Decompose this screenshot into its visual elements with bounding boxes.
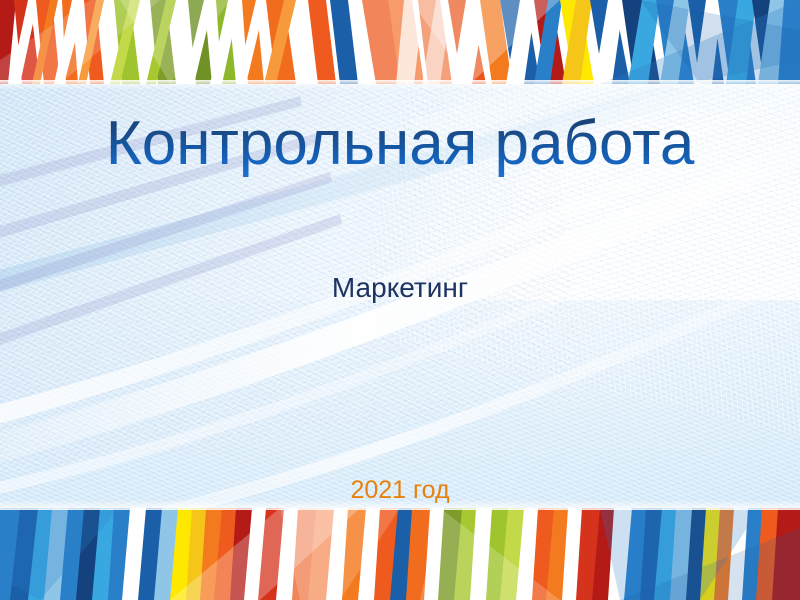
slide-title[interactable]: Контрольная работа bbox=[0, 108, 800, 180]
slide-text-layer: Контрольная работа Маркетинг 2021 год bbox=[0, 0, 800, 600]
slide-subtitle[interactable]: Маркетинг bbox=[0, 271, 800, 305]
presentation-slide: Контрольная работа Маркетинг 2021 год bbox=[0, 0, 800, 600]
slide-year[interactable]: 2021 год bbox=[0, 475, 800, 505]
